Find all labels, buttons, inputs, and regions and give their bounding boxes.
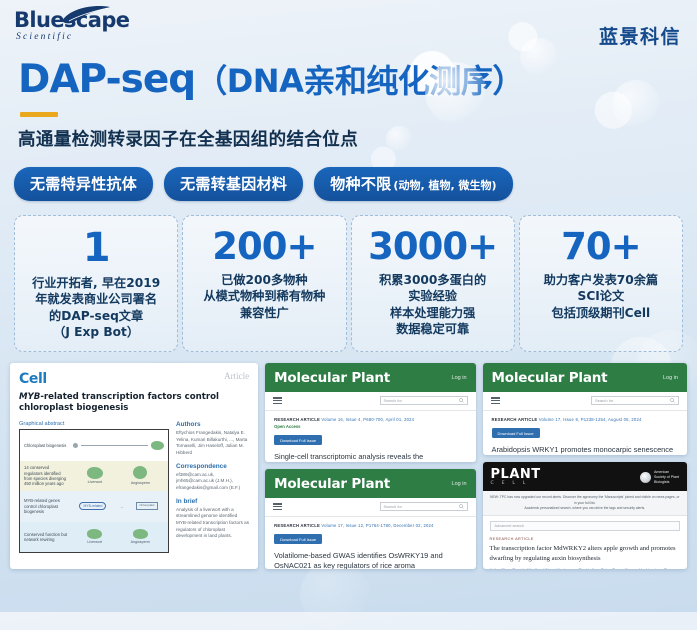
society-name: American Society of Plant Biologists (654, 470, 679, 485)
logo-tagline: Scientific (14, 32, 146, 42)
pill-label: 无需特异性抗体 (30, 173, 137, 194)
page-title: DAP-seq（DNA亲和纯化测序） (18, 60, 697, 101)
page-header: Bluescape Scientific 蓝景科信 (0, 0, 697, 54)
society-seal-icon (640, 472, 651, 483)
issue-meta[interactable]: Volume 17, Issue 8, P1238-1254, August 0… (539, 417, 642, 422)
graphical-abstract: Graphical abstract Chloroplast biogenesi… (19, 421, 169, 553)
authors-list: Eftychios Frangedakis, Natalya E. Yelina… (176, 430, 249, 457)
papers-column-middle: Molecular Plant Log in Search for RESEAR… (265, 363, 475, 569)
login-link[interactable]: Log in (452, 375, 467, 381)
login-link[interactable]: Log in (663, 375, 678, 381)
feature-pill-antibody[interactable]: 无需特异性抗体 (14, 167, 153, 201)
publication-thumbnails: Cell Article MYB-related transcription f… (10, 363, 687, 569)
abstract-row-label: 14 conserved regulators identified from … (24, 465, 68, 486)
logo-line-1: PLANT (491, 468, 541, 481)
menu-icon[interactable] (491, 396, 500, 406)
abstract-caption: Angiosperm (131, 540, 150, 544)
stat-number: 1 (21, 228, 171, 268)
paper-card-plant-cell[interactable]: PLANT C E L L American Society of Plant … (483, 462, 687, 569)
journal-logo-cell: Cell (19, 371, 47, 387)
journal-logo-plant-cell: PLANT C E L L (491, 468, 541, 487)
bubble-decoration (300, 560, 370, 630)
stat-card-species[interactable]: 200+ 已做200多物种 从模式物种到稀有物种 兼容性广 (182, 215, 346, 352)
article-type-label: Article (224, 371, 249, 381)
journal-logo-molecular-plant: Molecular Plant (274, 476, 390, 492)
stat-description: 行业开拓者, 早在2019 年就发表商业公司署名 的DAP-seq文章 （J E… (21, 275, 171, 341)
paper-metadata: Authors Eftychios Frangedakis, Natalya E… (176, 421, 249, 553)
stat-description: 助力客户发表70余篇 SCI论文 包括顶级期刊Cell (526, 272, 676, 321)
journal-logo-molecular-plant: Molecular Plant (274, 370, 390, 386)
issue-meta[interactable]: Volume 16, Issue 4, P680-700, April 01, … (321, 417, 414, 422)
papers-column-right: Molecular Plant Log in Search for RESEAR… (483, 363, 687, 569)
stat-card-publications[interactable]: 70+ 助力客户发表70余篇 SCI论文 包括顶级期刊Cell (519, 215, 683, 352)
menu-icon[interactable] (273, 502, 282, 512)
journal-toolbar: Search for (265, 392, 475, 411)
stat-card-row: 1 行业开拓者, 早在2019 年就发表商业公司署名 的DAP-seq文章 （J… (12, 215, 685, 352)
abstract-row: MYB-related genes control chloroplast bi… (20, 491, 168, 522)
search-placeholder: Search for (595, 398, 613, 403)
stat-number: 200+ (189, 228, 339, 265)
abstract-row: Chloroplast biogenesis (20, 430, 168, 461)
abstract-caption: Liverwort (87, 480, 103, 484)
abstract-row-art: Liverwort Angiosperm (73, 529, 164, 545)
menu-icon[interactable] (273, 396, 282, 406)
stat-number: 3000+ (358, 228, 508, 265)
abstract-row-label: Conserved function but network rewiring (24, 532, 68, 543)
journal-header-molecular-plant: Molecular Plant Log in (265, 363, 475, 392)
paper-title: MYB-related transcription factors contro… (19, 392, 249, 415)
issue-meta[interactable]: Volume 17, Issue 12, P1764-1780, Decembe… (321, 523, 433, 528)
site-notice-banner: NEW: TPC has now upgraded our record ale… (483, 491, 687, 515)
abstract-row-art (73, 441, 164, 450)
journal-header-molecular-plant: Molecular Plant Log in (265, 469, 475, 498)
title-chinese: （DNA亲和纯化测序） (195, 62, 524, 100)
article-type: RESEARCH ARTICLE (274, 523, 320, 528)
search-icon (670, 398, 675, 403)
authors-heading: Authors (176, 421, 249, 428)
abstract-caption: Liverwort (87, 540, 102, 544)
search-input[interactable]: Search for (380, 396, 468, 405)
stat-number: 70+ (526, 228, 676, 265)
society-badge: American Society of Plant Biologists (640, 470, 679, 485)
article-type: RESEARCH ARTICLE (492, 417, 538, 422)
search-placeholder: Advanced search (495, 524, 524, 528)
stat-card-proteins[interactable]: 3000+ 积累3000多蛋白的 实验经验 样本处理能力强 数据稳定可靠 (351, 215, 515, 352)
inbrief-heading: In brief (176, 498, 249, 505)
abstract-caption: Angiosperm (131, 481, 150, 485)
login-link[interactable]: Log in (452, 481, 467, 487)
logo-line-2: C E L L (491, 482, 541, 487)
abstract-row: 14 conserved regulators identified from … (20, 461, 168, 492)
paper-body: RESEARCH ARTICLE Volume 17, Issue 8, P12… (483, 411, 687, 455)
advanced-search-input[interactable]: Advanced search (490, 521, 680, 531)
inbrief-text: Analysis of a liverwort with a streamlin… (176, 507, 249, 540)
search-placeholder: Search for (384, 504, 402, 509)
article-kicker: RESEARCH ARTICLE Volume 17, Issue 8, P12… (492, 417, 678, 422)
title-underline-rule (20, 112, 58, 117)
article-type: RESEARCH ARTICLE (274, 417, 320, 422)
correspondence-heading: Correspondence (176, 463, 249, 470)
journal-toolbar: Search for (483, 392, 687, 411)
abstract-row-art: Liverwort Angiosperm (73, 466, 164, 485)
paper-body: RESEARCH ARTICLE Volume 16, Issue 4, P68… (265, 411, 475, 462)
search-icon (459, 398, 464, 403)
search-input[interactable]: Search for (380, 502, 468, 511)
paper-card-wrky[interactable]: Molecular Plant Log in Search for RESEAR… (483, 363, 687, 455)
feature-pill-row: 无需特异性抗体 无需转基因材料 物种不限 (动物, 植物, 微生物) (0, 151, 697, 201)
stat-description: 已做200多物种 从模式物种到稀有物种 兼容性广 (189, 272, 339, 321)
paper-title[interactable]: Single-cell transcriptomic analysis reve… (274, 452, 466, 462)
paper-title-rest: -related transcription factors control c… (19, 392, 219, 414)
journal-toolbar: Search for (265, 498, 475, 517)
pill-label: 无需转基因材料 (180, 173, 287, 194)
abstract-row-art: MYB-related → Chloroplast (73, 502, 164, 510)
search-input[interactable]: Search for (591, 396, 679, 405)
feature-pill-transgenic[interactable]: 无需转基因材料 (164, 167, 303, 201)
graphical-abstract-heading: Graphical abstract (19, 421, 169, 427)
open-access-label: Open Access (274, 424, 466, 429)
authors-list: Haitao Chen, Shuaixin Wu, Yanni Wang, Xi… (490, 567, 680, 569)
page-subtitle: 高通量检测转录因子在全基因组的结合位点 (18, 126, 697, 151)
brand-chinese-name: 蓝景科信 (599, 22, 681, 49)
feature-pill-species[interactable]: 物种不限 (动物, 植物, 微生物) (314, 167, 512, 201)
article-kicker: RESEARCH ARTICLE Volume 17, Issue 12, P1… (274, 523, 466, 528)
paper-body: Advanced search RESEARCH ARTICLE The tra… (483, 516, 687, 569)
paper-body: RESEARCH ARTICLE Volume 17, Issue 12, P1… (265, 517, 475, 569)
hero-title-block: DAP-seq（DNA亲和纯化测序） 高通量检测转录因子在全基因组的结合位点 (0, 54, 697, 151)
paper-title-gene: MYB (19, 392, 40, 402)
leaf-icon (60, 6, 112, 24)
download-button[interactable]: Download Full Issue (274, 435, 322, 445)
search-placeholder: Search for (384, 398, 402, 403)
paper-title-text: Single-cell transcriptomic analysis reve… (274, 452, 452, 462)
abstract-row-label: MYB-related genes control chloroplast bi… (24, 498, 68, 514)
article-kicker: RESEARCH ARTICLE (490, 537, 680, 541)
abstract-row: Conserved function but network rewiring … (20, 522, 168, 553)
stat-description: 积累3000多蛋白的 实验经验 样本处理能力强 数据稳定可靠 (358, 272, 508, 338)
pill-sublabel: (动物, 植物, 微生物) (393, 177, 496, 193)
abstract-row-label: Chloroplast biogenesis (24, 443, 68, 448)
stat-card-pioneer[interactable]: 1 行业开拓者, 早在2019 年就发表商业公司署名 的DAP-seq文章 （J… (14, 215, 178, 352)
pill-label: 物种不限 (330, 173, 391, 194)
paper-card-rice[interactable]: Molecular Plant Log in Search for RESEAR… (265, 469, 475, 569)
journal-logo-molecular-plant: Molecular Plant (492, 370, 608, 386)
paper-title[interactable]: Arabidopsis WRKY1 promotes monocarpic se… (492, 445, 678, 455)
company-logo: Bluescape Scientific (14, 10, 146, 42)
paper-title[interactable]: The transcription factor MdWRKY2 alters … (490, 544, 680, 564)
download-button[interactable]: Download Full Issue (274, 534, 322, 544)
article-kicker: RESEARCH ARTICLE Volume 16, Issue 4, P68… (274, 417, 466, 422)
search-icon (459, 504, 464, 509)
paper-title[interactable]: Volatilome-based GWAS identifies OsWRKY1… (274, 551, 466, 569)
download-button[interactable]: Download Full Issue (492, 428, 540, 438)
title-english: DAP-seq (18, 57, 195, 102)
papers-column-left: Cell Article MYB-related transcription f… (10, 363, 258, 569)
journal-header-plant-cell: PLANT C E L L American Society of Plant … (483, 462, 687, 492)
correspondence-emails: ef389@cam.ac.uk, jmh65@cam.ac.uk (J.M.H.… (176, 472, 249, 492)
journal-header-molecular-plant: Molecular Plant Log in (483, 363, 687, 392)
paper-card-cotton[interactable]: Molecular Plant Log in Search for RESEAR… (265, 363, 475, 462)
paper-card-cell[interactable]: Cell Article MYB-related transcription f… (10, 363, 258, 569)
